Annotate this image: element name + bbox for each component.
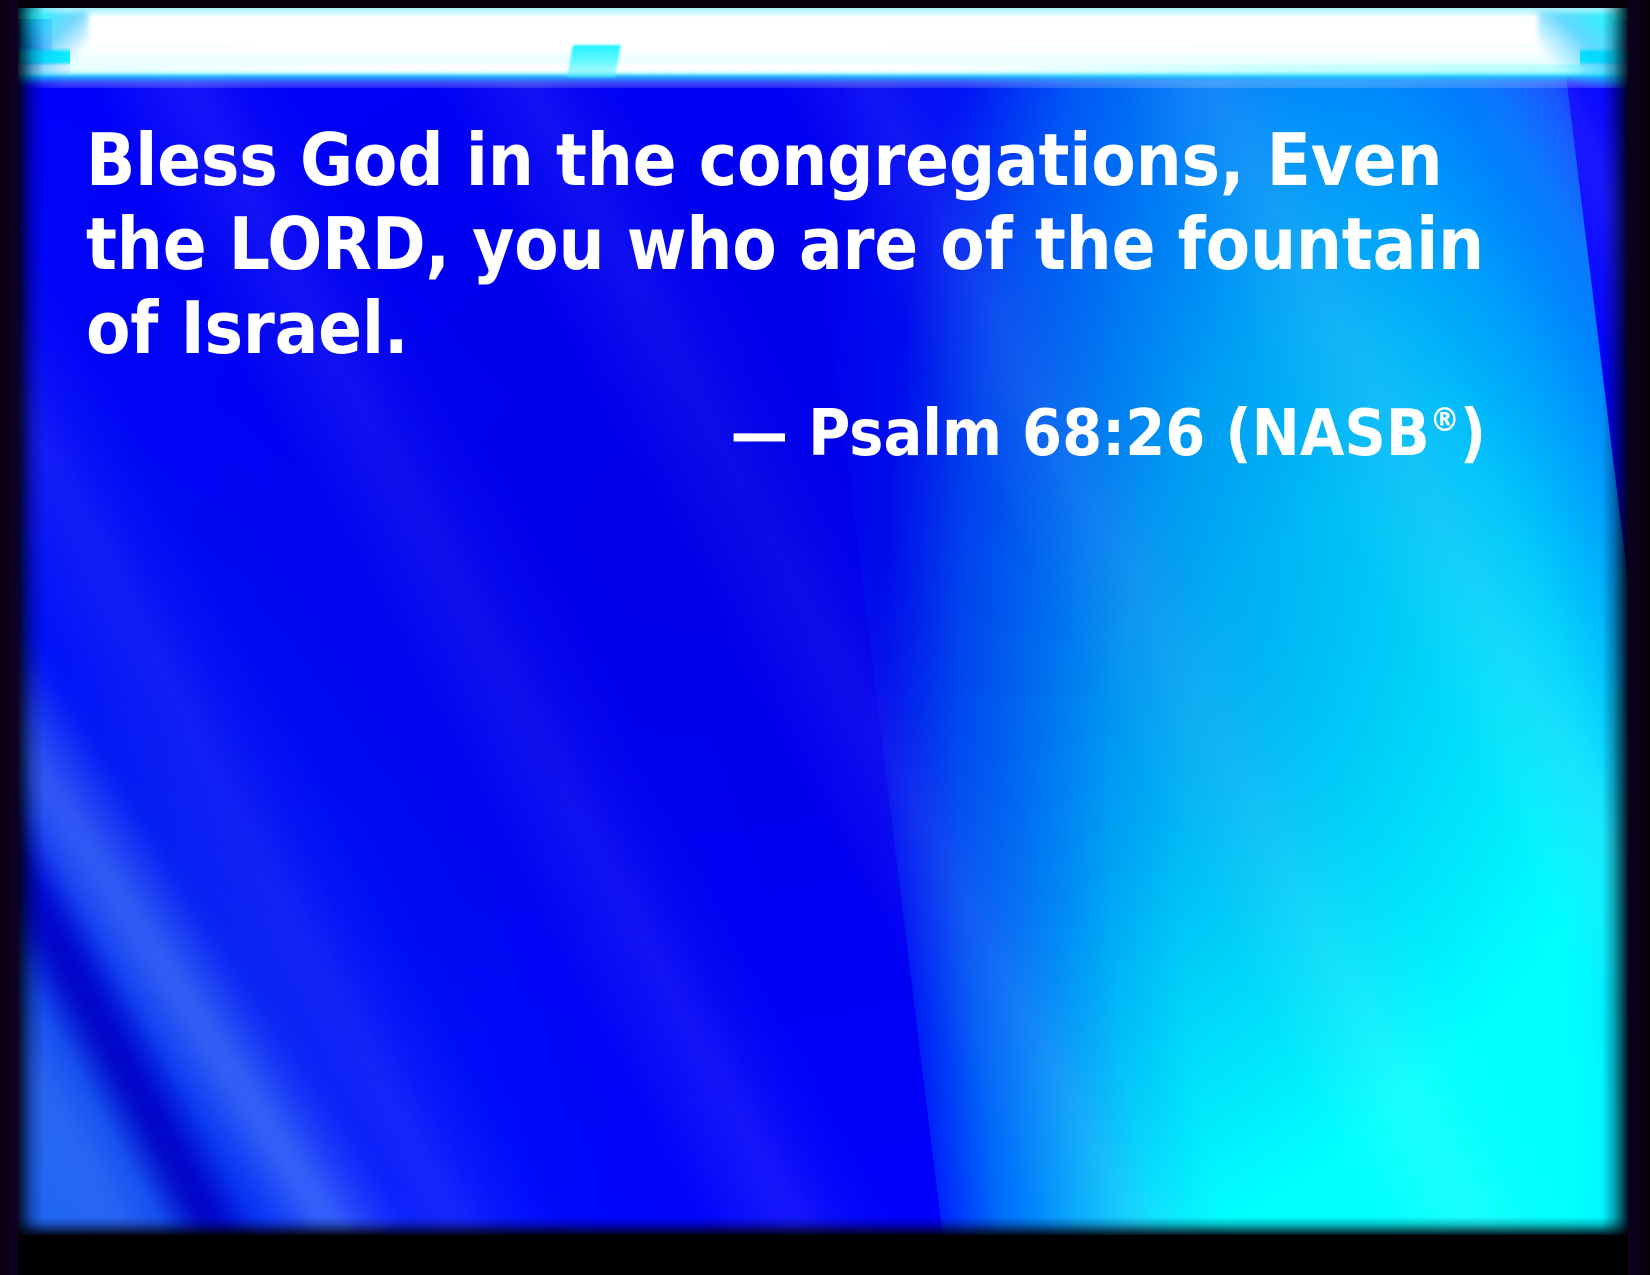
verse-reference-chapter-verse: 68:26 (1022, 397, 1205, 471)
verse-slide: Bless God in the congregations, Even the… (0, 0, 1650, 1275)
verse-reference-dash: — (730, 397, 788, 471)
frame-bottom-border (0, 1235, 1650, 1275)
frame-top-border (0, 0, 1650, 8)
frame-left-border (0, 0, 18, 1275)
verse-text: Bless God in the congregations, Even the… (86, 118, 1506, 370)
verse-block: Bless God in the congregations, Even the… (86, 118, 1506, 470)
verse-reference-close-paren: ) (1460, 397, 1486, 471)
verse-reference: — Psalm 68:26 (NASB®) (86, 384, 1506, 470)
verse-reference-translation: (NASB (1225, 397, 1429, 471)
registered-trademark-icon: ® (1430, 400, 1460, 439)
verse-reference-book: Psalm (808, 397, 1002, 471)
frame-right-border (1628, 0, 1650, 1275)
